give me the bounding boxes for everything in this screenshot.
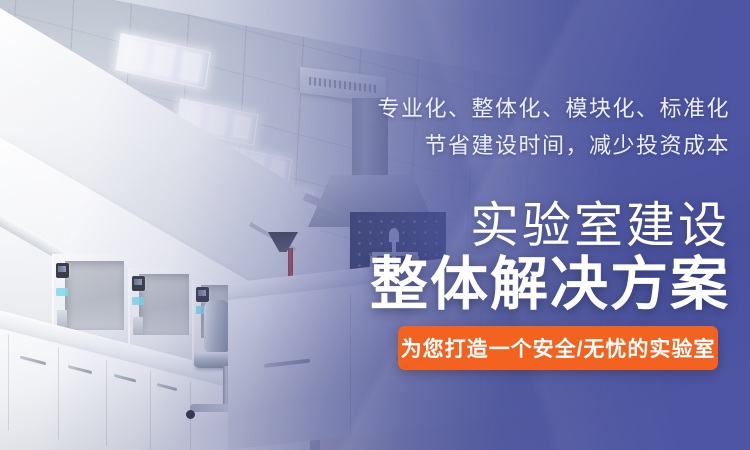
subtitle-line-2: 节省建设时间，减少投资成本	[424, 128, 730, 160]
cta-button[interactable]: 为您打造一个安全/无忧的实验室	[398, 326, 718, 370]
banner-content: 专业化、整体化、模块化、标准化 节省建设时间，减少投资成本 实验室建设 整体解决…	[0, 0, 750, 450]
headline-line-2: 整体解决方案	[370, 237, 730, 321]
promo-banner: 专业化、整体化、模块化、标准化 节省建设时间，减少投资成本 实验室建设 整体解决…	[0, 0, 750, 450]
subtitle-line-1: 专业化、整体化、模块化、标准化	[377, 91, 730, 123]
